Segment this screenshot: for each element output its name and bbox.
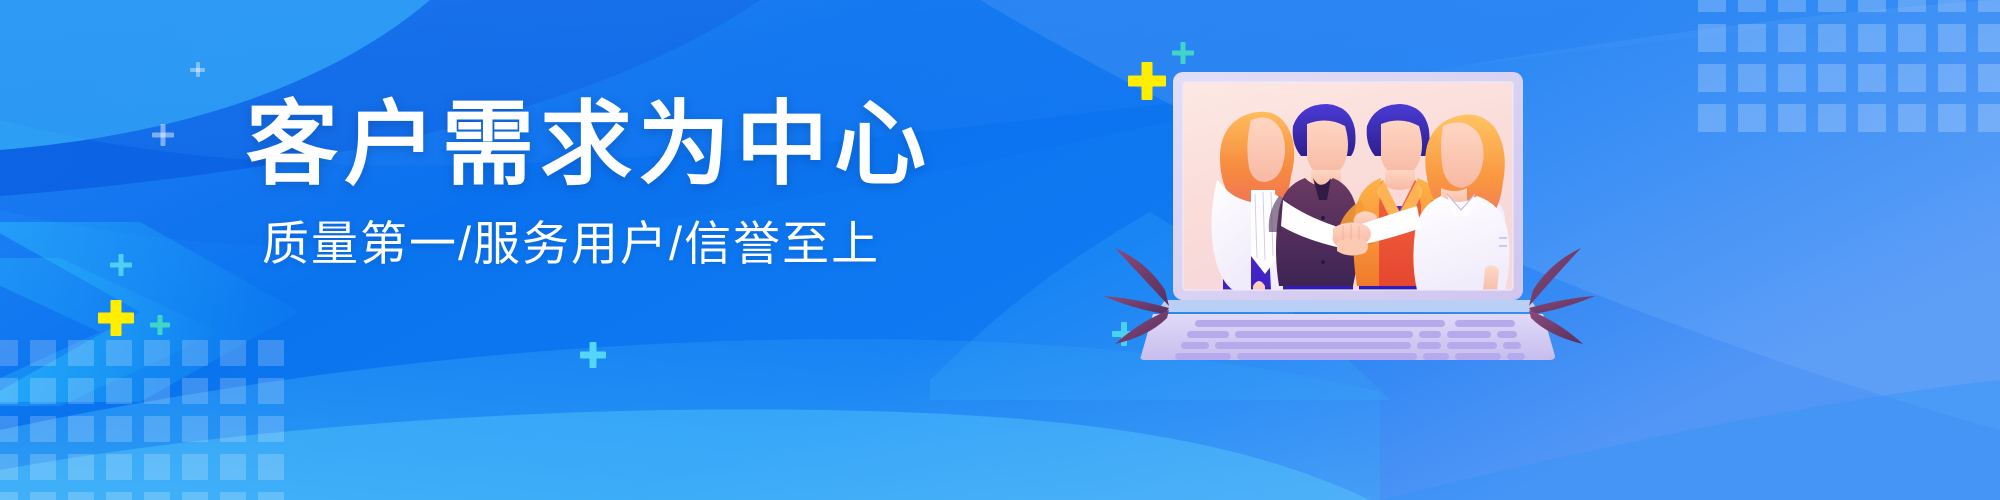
plus-cyan-mid-left-icon <box>110 254 132 276</box>
laptop-team-graphic <box>1155 60 1585 360</box>
page-subtitle: 质量第一/服务用户/信誉至上 <box>262 217 946 271</box>
laptop-illustration <box>1155 60 1585 360</box>
plus-cyan-bottom-center-icon <box>580 342 606 368</box>
page-title: 客户需求为中心 <box>246 96 946 195</box>
plus-yellow-bottom-left-icon <box>98 300 134 336</box>
laptop-hinge <box>1157 300 1539 312</box>
plus-white-small-left-icon <box>190 62 205 77</box>
promo-banner: 客户需求为中心 质量第一/服务用户/信誉至上 <box>0 0 2000 500</box>
plus-cyan-bottom-left-icon <box>150 315 170 335</box>
headline-text-block: 客户需求为中心 质量第一/服务用户/信誉至上 <box>246 96 946 271</box>
joined-hands <box>1333 222 1371 255</box>
plus-white-upper-left-icon <box>152 124 174 146</box>
